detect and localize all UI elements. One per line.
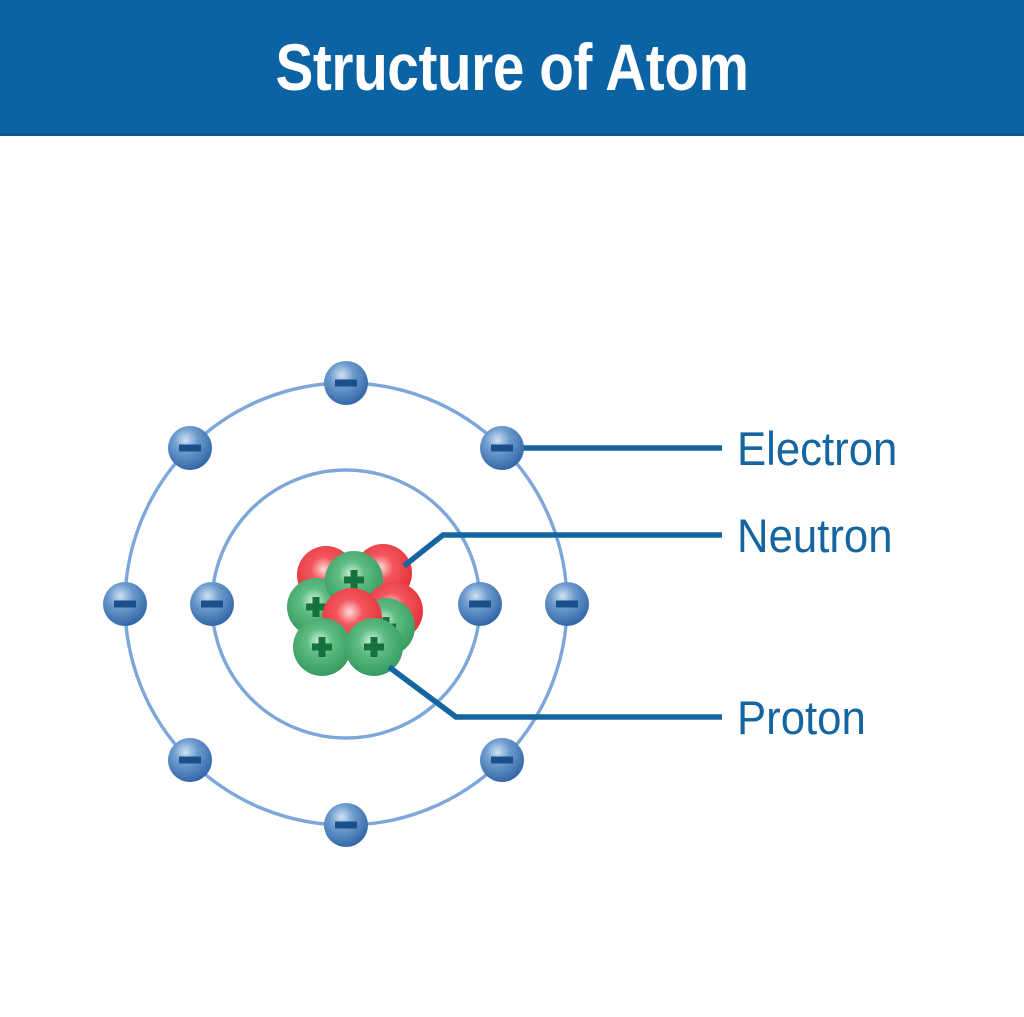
- label-electron: Electron: [737, 425, 897, 472]
- electron-particle: [480, 426, 524, 470]
- label-proton: Proton: [737, 694, 866, 741]
- atom-infographic: Structure of Atom: [0, 0, 1024, 1017]
- electron-particle: [103, 582, 147, 626]
- electron-particle: [480, 738, 524, 782]
- proton-particle: [345, 618, 403, 676]
- page-title: Structure of Atom: [275, 34, 748, 100]
- diagram-stage: Electron Neutron Proton: [0, 133, 1024, 1017]
- header-banner: Structure of Atom: [0, 0, 1024, 133]
- electron-particle: [458, 582, 502, 626]
- electron-particle: [324, 803, 368, 847]
- electron-particle: [324, 361, 368, 405]
- atom-diagram: [0, 133, 1024, 1017]
- electron-particle: [545, 582, 589, 626]
- electron-particle: [168, 738, 212, 782]
- label-neutron: Neutron: [737, 512, 893, 559]
- electron-particle: [168, 426, 212, 470]
- electron-particle: [190, 582, 234, 626]
- proton-particle: [293, 618, 351, 676]
